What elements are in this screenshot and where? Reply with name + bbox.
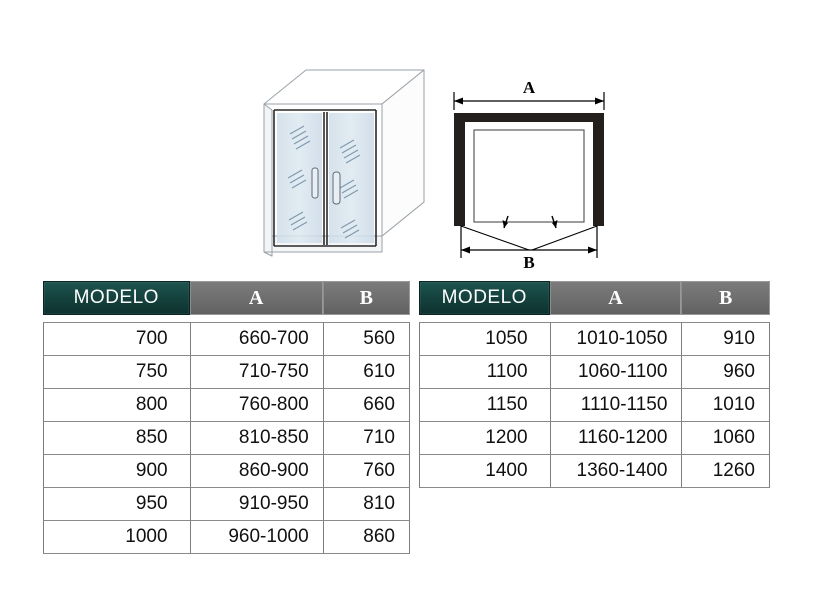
cell-modelo: 800 xyxy=(43,389,190,422)
header-body-gap xyxy=(43,315,410,322)
table-row: 1200 1160-1200 1060 xyxy=(419,422,770,455)
table-row: 750 710-750 610 xyxy=(43,356,410,389)
cell-b: 860 xyxy=(323,521,410,554)
cell-a: 710-750 xyxy=(190,356,323,389)
cell-a: 1010-1050 xyxy=(550,322,682,356)
column-header-a: A xyxy=(550,281,682,315)
cell-b: 960 xyxy=(681,356,770,389)
cell-b: 710 xyxy=(323,422,410,455)
table-header-row: MODELO A B xyxy=(419,281,770,315)
table-row: 1050 1010-1050 910 xyxy=(419,322,770,356)
table-row: 1100 1060-1100 960 xyxy=(419,356,770,389)
cell-modelo: 1000 xyxy=(43,521,190,554)
table-row: 900 860-900 760 xyxy=(43,455,410,488)
table-row: 700 660-700 560 xyxy=(43,322,410,356)
table-body: 1050 1010-1050 910 1100 1060-1100 960 11… xyxy=(419,315,770,488)
cell-modelo: 1050 xyxy=(419,322,550,356)
shower-enclosure-plan-drawing: A xyxy=(432,80,632,270)
cell-b: 810 xyxy=(323,488,410,521)
cell-a: 1060-1100 xyxy=(550,356,682,389)
cell-a: 1110-1150 xyxy=(550,389,682,422)
table-row: 800 760-800 660 xyxy=(43,389,410,422)
header-body-gap xyxy=(419,315,770,322)
cell-b: 910 xyxy=(681,322,770,356)
column-header-a: A xyxy=(190,281,323,315)
table-row: 1150 1110-1150 1010 xyxy=(419,389,770,422)
cell-a: 1160-1200 xyxy=(550,422,682,455)
cell-a: 910-950 xyxy=(190,488,323,521)
column-header-b: B xyxy=(323,281,410,315)
cell-a: 860-900 xyxy=(190,455,323,488)
cell-b: 1260 xyxy=(681,455,770,488)
cell-modelo: 900 xyxy=(43,455,190,488)
cell-b: 1060 xyxy=(681,422,770,455)
spec-table-right: MODELO A B 1050 1010-1050 910 1100 1060-… xyxy=(419,281,770,488)
column-header-b: B xyxy=(681,281,770,315)
cell-b: 660 xyxy=(323,389,410,422)
spec-table-left: MODELO A B 700 660-700 560 750 710-750 6… xyxy=(43,281,410,554)
cell-b: 560 xyxy=(323,322,410,356)
dimension-label-a: A xyxy=(523,80,536,97)
cell-a: 660-700 xyxy=(190,322,323,356)
cell-modelo: 1200 xyxy=(419,422,550,455)
cell-a: 810-850 xyxy=(190,422,323,455)
cell-modelo: 750 xyxy=(43,356,190,389)
cell-b: 760 xyxy=(323,455,410,488)
dimension-label-b: B xyxy=(523,253,534,270)
table-row: 950 910-950 810 xyxy=(43,488,410,521)
table-row: 1000 960-1000 860 xyxy=(43,521,410,554)
table-row: 1400 1360-1400 1260 xyxy=(419,455,770,488)
cell-modelo: 850 xyxy=(43,422,190,455)
cell-a: 1360-1400 xyxy=(550,455,682,488)
cell-b: 610 xyxy=(323,356,410,389)
column-header-modelo: MODELO xyxy=(419,281,550,315)
table-body: 700 660-700 560 750 710-750 610 800 760-… xyxy=(43,315,410,554)
table-header-row: MODELO A B xyxy=(43,281,410,315)
cell-modelo: 1400 xyxy=(419,455,550,488)
cell-modelo: 1100 xyxy=(419,356,550,389)
shower-enclosure-perspective-drawing xyxy=(248,56,428,266)
cell-b: 1010 xyxy=(681,389,770,422)
door-handle-left xyxy=(312,168,318,198)
cell-a: 760-800 xyxy=(190,389,323,422)
technical-drawings-area: A xyxy=(0,0,821,272)
cell-modelo: 700 xyxy=(43,322,190,356)
table-row: 850 810-850 710 xyxy=(43,422,410,455)
cell-a: 960-1000 xyxy=(190,521,323,554)
door-handle-right xyxy=(333,172,340,204)
cell-modelo: 1150 xyxy=(419,389,550,422)
cell-modelo: 950 xyxy=(43,488,190,521)
column-header-modelo: MODELO xyxy=(43,281,190,315)
